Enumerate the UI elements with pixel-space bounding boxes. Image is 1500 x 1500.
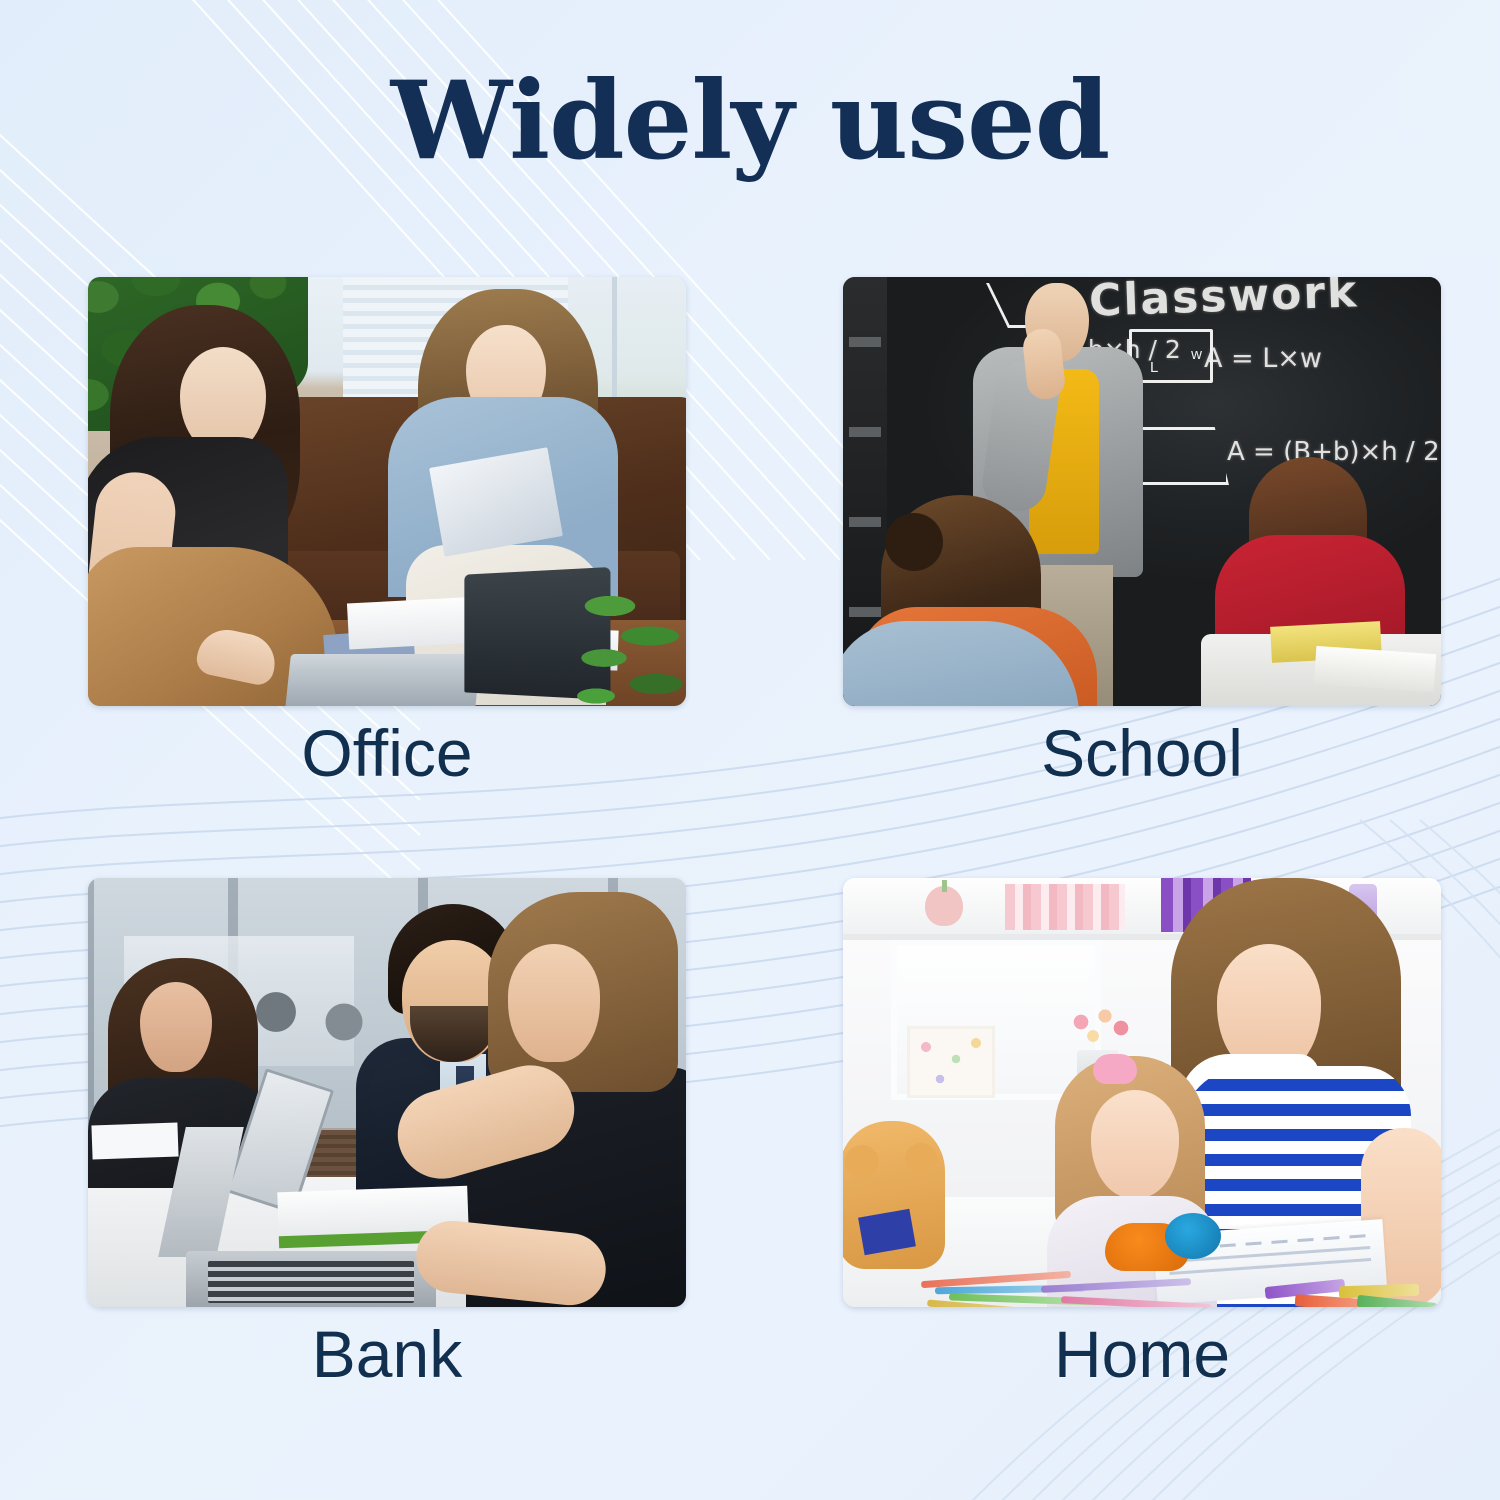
card-caption-office: Office — [88, 720, 686, 786]
advisor-woman-face — [508, 944, 600, 1062]
office-photo — [88, 277, 686, 706]
shelf-books-pink — [1005, 884, 1125, 930]
teddy-bear-ear-left — [845, 1145, 879, 1179]
crayons — [1265, 1277, 1435, 1307]
chalkboard-heading: Classwork — [1088, 277, 1359, 327]
card-home[interactable]: Home — [843, 878, 1441, 1387]
card-caption-bank: Bank — [88, 1321, 686, 1387]
apple-decoration — [925, 886, 963, 926]
laptop-left — [285, 654, 481, 706]
wall-picture — [907, 1026, 995, 1098]
page-title: Widely used — [0, 62, 1500, 181]
teddy-bear-ear-right — [905, 1143, 937, 1175]
card-office[interactable]: Office — [88, 277, 686, 786]
bank-photo — [88, 878, 686, 1307]
loose-paper — [91, 1123, 178, 1160]
chalk-formula-two: A = L×w — [1204, 343, 1322, 374]
card-school[interactable]: Classwork = b×h / 2 L w A = L×w h A = (B… — [843, 277, 1441, 786]
use-case-grid: Office Classwork = b×h / 2 L w A = L×w h — [0, 277, 1500, 1479]
foliage-plant-right — [570, 566, 686, 706]
poster-root: Widely used — [0, 0, 1500, 1500]
home-photo — [843, 878, 1441, 1307]
girl-hair-bow — [1093, 1054, 1137, 1084]
girl-face — [1091, 1090, 1179, 1198]
blue-clay — [1165, 1213, 1221, 1259]
school-photo: Classwork = b×h / 2 L w A = L×w h A = (B… — [843, 277, 1441, 706]
chalk-label-L: L — [1150, 359, 1158, 376]
colored-pencils — [921, 1269, 1221, 1307]
grid-row-2: Bank — [0, 878, 1500, 1479]
laptop-keyboard — [186, 1251, 436, 1307]
chalk-label-w: w — [1191, 346, 1202, 363]
grid-row-1: Office Classwork = b×h / 2 L w A = L×w h — [0, 277, 1500, 878]
card-bank[interactable]: Bank — [88, 878, 686, 1387]
card-caption-school: School — [843, 720, 1441, 786]
student-one-bun — [885, 513, 943, 571]
client-woman-face — [140, 982, 212, 1072]
card-caption-home: Home — [843, 1321, 1441, 1387]
